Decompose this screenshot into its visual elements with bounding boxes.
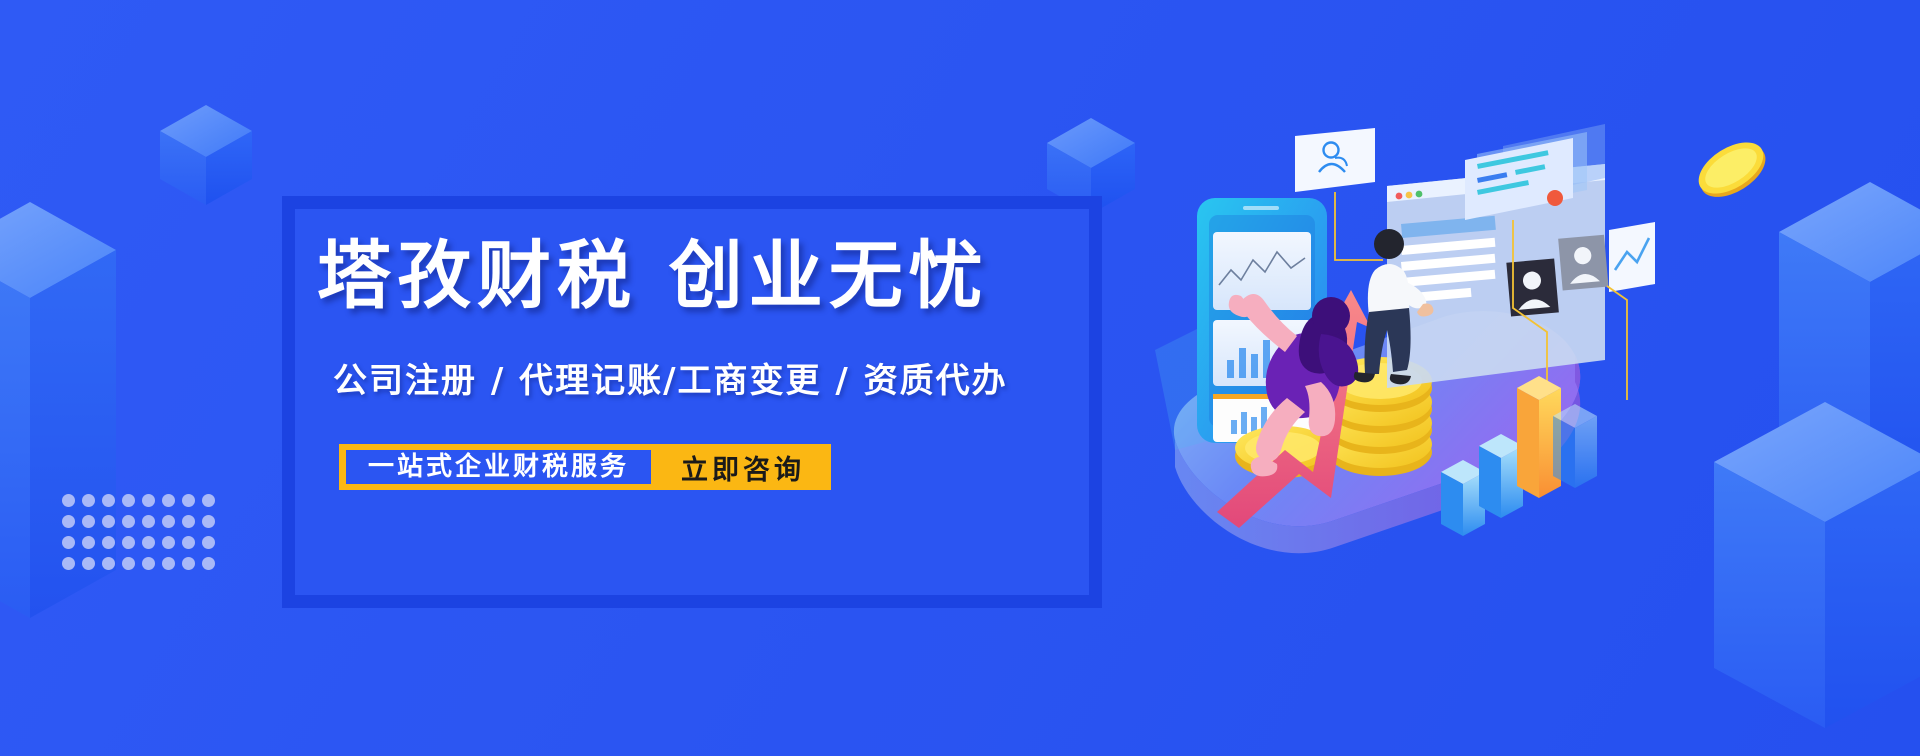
cta-bar[interactable]: 一站式企业财税服务 立即咨询 — [339, 444, 831, 490]
line-chart-card — [1609, 222, 1655, 292]
page-title: 塔孜财税 创业无忧 — [317, 239, 989, 313]
promo-banner: 塔孜财税 创业无忧 公司注册 / 代理记账/工商变更 / 资质代办 一站式企业财… — [0, 0, 1920, 756]
consult-now-button[interactable]: 立即咨询 — [651, 448, 831, 487]
isometric-prism-right-short-icon — [1710, 400, 1920, 730]
profile-card — [1295, 128, 1375, 192]
service-list-subtitle: 公司注册 / 代理记账/工商变更 / 资质代办 — [333, 364, 1008, 398]
isometric-fintech-illustration — [1135, 120, 1655, 580]
isometric-cube-top-left-icon — [158, 103, 254, 207]
dot-grid — [62, 494, 222, 578]
copy-block: 塔孜财税 创业无忧 公司注册 / 代理记账/工商变更 / 资质代办 一站式企业财… — [295, 209, 1089, 595]
gold-coin-right-icon — [1690, 130, 1772, 206]
cta-tag-label: 一站式企业财税服务 — [346, 450, 651, 484]
